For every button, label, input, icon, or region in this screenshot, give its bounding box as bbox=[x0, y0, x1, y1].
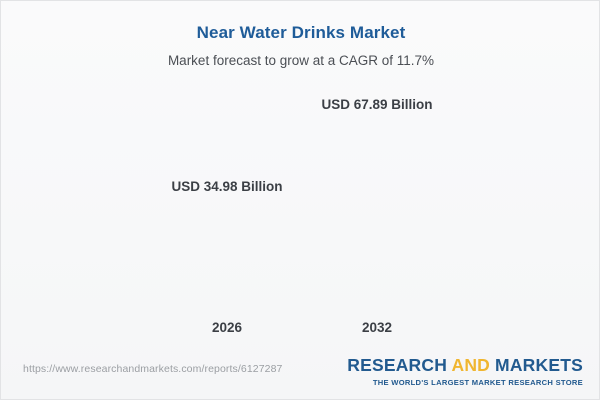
logo-wordmark: RESEARCH AND MARKETS bbox=[347, 357, 583, 375]
research-and-markets-logo[interactable]: RESEARCH AND MARKETS THE WORLD'S LARGEST… bbox=[347, 357, 583, 386]
logo-and-text: AND bbox=[451, 355, 490, 375]
footer: https://www.researchandmarkets.com/repor… bbox=[1, 347, 600, 399]
logo-markets-text: MARKETS bbox=[490, 355, 583, 375]
chart-card: Near Water Drinks Market Market forecast… bbox=[0, 0, 600, 400]
value-label-2032: USD 67.89 Billion bbox=[267, 97, 487, 112]
value-label-2026: USD 34.98 Billion bbox=[117, 179, 337, 194]
logo-research-text: RESEARCH bbox=[347, 355, 451, 375]
category-label-2026: 2026 bbox=[176, 320, 278, 335]
logo-tagline: THE WORLD'S LARGEST MARKET RESEARCH STOR… bbox=[347, 379, 583, 387]
category-label-2032: 2032 bbox=[326, 320, 428, 335]
plot-area: USD 34.98 Billion USD 67.89 Billion bbox=[1, 1, 600, 346]
report-url[interactable]: https://www.researchandmarkets.com/repor… bbox=[23, 363, 282, 375]
